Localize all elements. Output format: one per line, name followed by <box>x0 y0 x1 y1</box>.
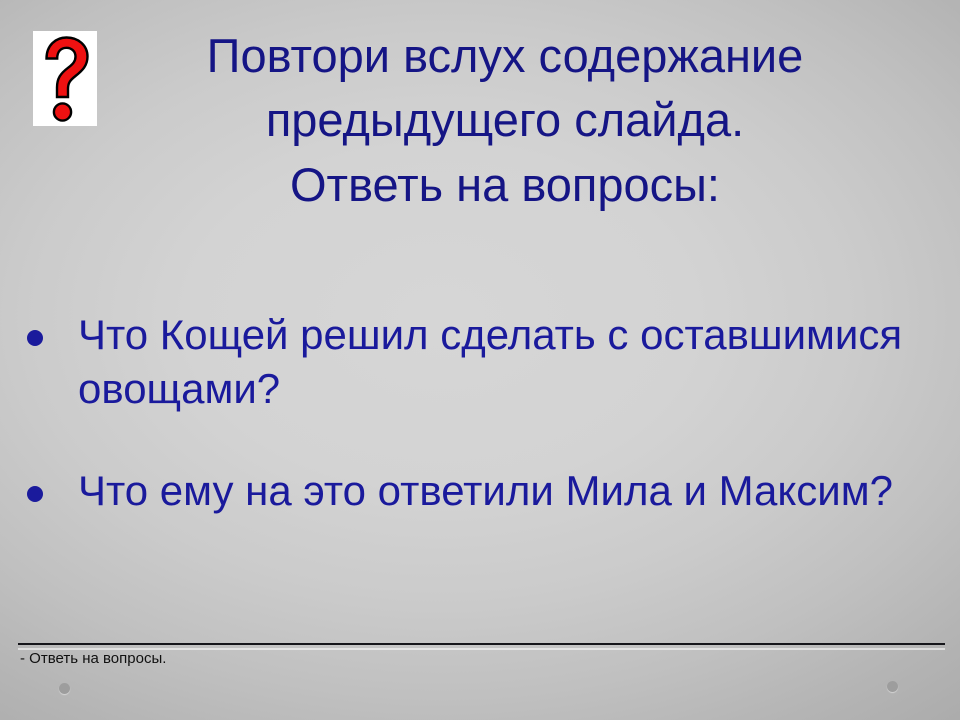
slide-canvas: Повтори вслух содержание предыдущего сла… <box>0 0 960 720</box>
footer-note: - Ответь на вопросы. <box>20 650 166 668</box>
decorative-dot-left <box>59 683 70 694</box>
title-line-1: Повтори вслух содержание <box>110 24 900 88</box>
title-line-2: предыдущего слайда. <box>110 88 900 152</box>
bullet-dot-icon <box>27 330 43 346</box>
slide-title: Повтори вслух содержание предыдущего сла… <box>110 24 900 217</box>
title-line-3: Ответь на вопросы: <box>110 153 900 217</box>
question-text-1: Что Кощей решил сделать с оставшимися ов… <box>78 308 944 416</box>
list-item: Что ему на это ответили Мила и Максим? <box>14 464 944 518</box>
bullet-dot-icon <box>27 486 43 502</box>
decorative-dot-right <box>887 681 898 692</box>
footer-divider <box>18 643 945 645</box>
question-list: Что Кощей решил сделать с оставшимися ов… <box>14 308 944 567</box>
question-text-2: Что ему на это ответили Мила и Максим? <box>78 464 944 518</box>
question-mark-icon <box>33 31 97 126</box>
list-item: Что Кощей решил сделать с оставшимися ов… <box>14 308 944 416</box>
